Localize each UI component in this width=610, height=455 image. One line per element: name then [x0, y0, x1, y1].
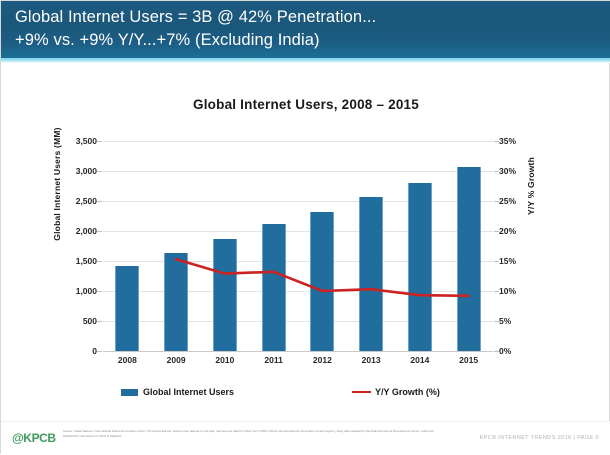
y-axis-left-tick-mark: [97, 261, 102, 262]
y-axis-left-tick-label: 2,000: [53, 226, 97, 236]
x-axis-tick-label: 2012: [298, 355, 347, 365]
slide-header: Global Internet Users = 3B @ 42% Penetra…: [1, 1, 610, 58]
y-axis-left-tick-mark: [97, 321, 102, 322]
y-axis-right-tick-mark: [494, 201, 499, 202]
y-axis-right-tick-label: 15%: [499, 256, 543, 266]
y-axis-right-tick-label: 5%: [499, 316, 543, 326]
y-axis-left-tick-label: 2,500: [53, 196, 97, 206]
legend-line-label: Y/Y Growth (%): [375, 387, 440, 397]
y-axis-right-tick-mark: [494, 171, 499, 172]
y-axis-right-tick-label: 0%: [499, 346, 543, 356]
x-axis-tick-label: 2013: [347, 355, 396, 365]
y-axis-right-tick-mark: [494, 231, 499, 232]
y-axis-left-tick-label: 1,000: [53, 286, 97, 296]
y-axis-left-tick-mark: [97, 351, 102, 352]
y-axis-left-tick-label: 3,500: [53, 136, 97, 146]
gridline: [103, 351, 493, 352]
y-axis-left-tick-mark: [97, 201, 102, 202]
header-accent-bar: [1, 58, 610, 63]
y-axis-right-tick-mark: [494, 141, 499, 142]
kpcb-logo: @KPCB: [12, 431, 56, 445]
chart-title: Global Internet Users, 2008 – 2015: [1, 97, 610, 112]
slide-canvas: Global Internet Users = 3B @ 42% Penetra…: [0, 0, 610, 454]
y-axis-right-tick-label: 25%: [499, 196, 543, 206]
header-headline-line-1: Global Internet Users = 3B @ 42% Penetra…: [15, 8, 376, 27]
x-axis-tick-label: 2008: [103, 355, 152, 365]
y-axis-left-tick-label: 3,000: [53, 166, 97, 176]
y-axis-left-tick-mark: [97, 291, 102, 292]
chart-legend: Global Internet Users Y/Y Growth (%): [55, 387, 545, 403]
legend-bar-label: Global Internet Users: [143, 387, 234, 397]
legend-item-line: Y/Y Growth (%): [352, 387, 440, 397]
x-axis-tick-label: 2015: [444, 355, 493, 365]
legend-item-bars: Global Internet Users: [121, 387, 234, 397]
x-axis-tick-label: 2009: [152, 355, 201, 365]
y-axis-right-tick-mark: [494, 351, 499, 352]
chart-container: Global Internet Users (MM) Y/Y % Growth …: [55, 129, 545, 375]
y-axis-right-tick-mark: [494, 291, 499, 292]
y-axis-right-tick-label: 20%: [499, 226, 543, 236]
y-axis-right-tick-label: 30%: [499, 166, 543, 176]
x-axis-tick-label: 2014: [396, 355, 445, 365]
footer-deck-label: KPCB INTERNET TRENDS 2016 | PAGE 6: [480, 435, 599, 441]
y-axis-right-tick-label: 10%: [499, 286, 543, 296]
x-axis-tick-label: 2011: [249, 355, 298, 365]
y-axis-left-tick-label: 500: [53, 316, 97, 326]
legend-bar-swatch-icon: [121, 389, 138, 396]
y-axis-right-tick-mark: [494, 261, 499, 262]
y-axis-left-tick-mark: [97, 141, 102, 142]
y-axis-left-tick-label: 1,500: [53, 256, 97, 266]
y-axis-right-tick-mark: [494, 321, 499, 322]
y-axis-left-tick-mark: [97, 231, 102, 232]
y-axis-left-tick-mark: [97, 171, 102, 172]
plot-area: 05001,0001,5002,0002,5003,0003,500 0%5%1…: [103, 141, 493, 351]
footer-source-note: Source: United Nations / International T…: [63, 429, 443, 438]
x-axis-tick-label: 2010: [201, 355, 250, 365]
line-series: [103, 141, 493, 351]
legend-line-swatch-icon: [352, 391, 371, 394]
y-axis-left-tick-label: 0: [53, 346, 97, 356]
header-headline-line-2: +9% vs. +9% Y/Y...+7% (Excluding India): [15, 31, 320, 50]
y-axis-right-tick-label: 35%: [499, 136, 543, 146]
